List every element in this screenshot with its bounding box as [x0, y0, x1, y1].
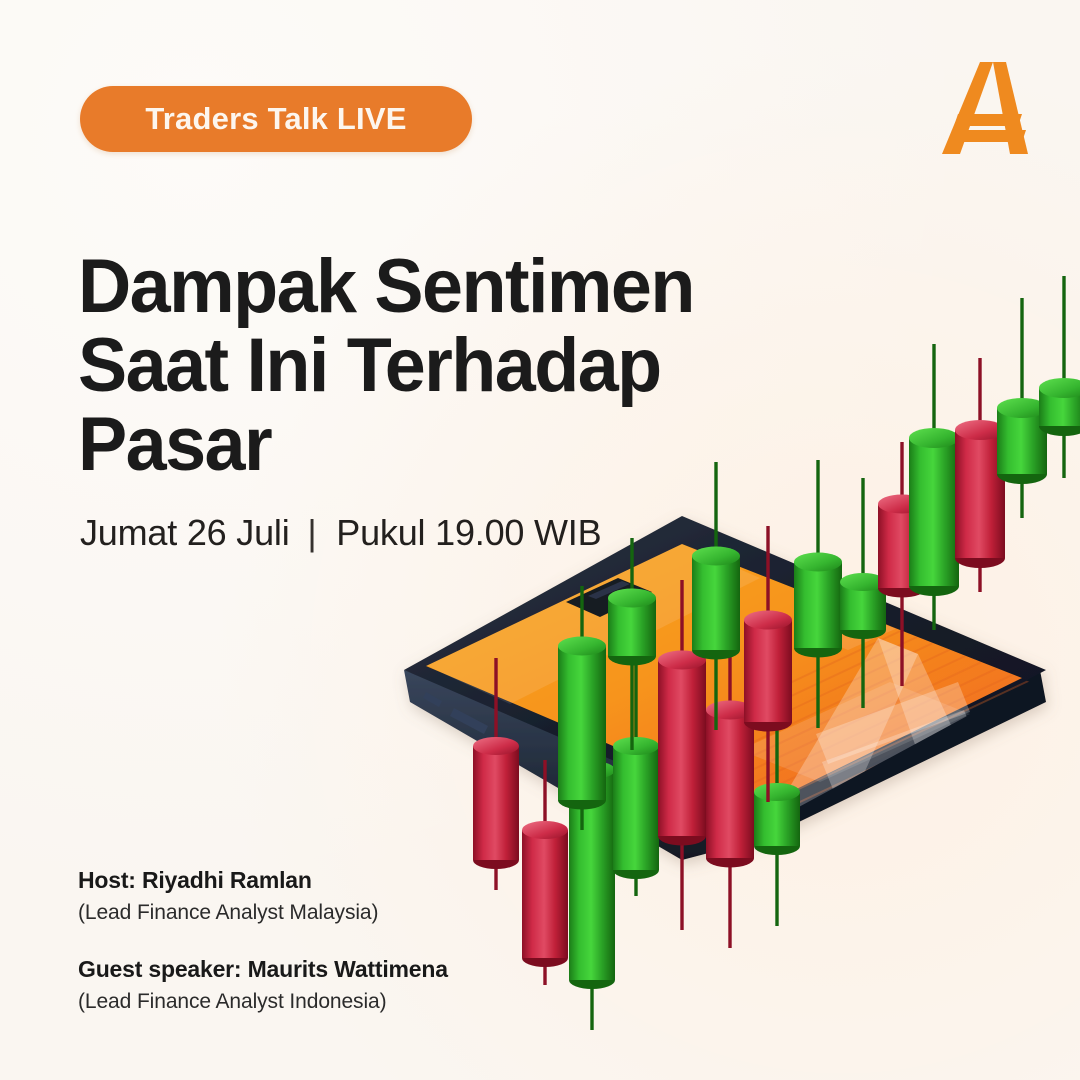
- credit-guest: Guest speaker: Maurits Wattimena (Lead F…: [78, 955, 548, 1016]
- credit-host: Host: Riyadhi Ramlan (Lead Finance Analy…: [78, 866, 548, 927]
- poster-canvas: Traders Talk LIVE Dampak Sentimen Saat I…: [0, 0, 1080, 1080]
- guest-role: (Lead Finance Analyst Indonesia): [78, 988, 548, 1016]
- brand-a-logo: [936, 58, 1032, 158]
- datetime-separator: |: [307, 512, 316, 554]
- live-badge-label: Traders Talk LIVE: [145, 101, 406, 137]
- host-name: Host: Riyadhi Ramlan: [78, 866, 548, 896]
- event-date: Jumat 26 Juli: [80, 512, 290, 553]
- page-title-line-1: Dampak Sentimen: [78, 247, 776, 326]
- candle-15: [909, 344, 959, 630]
- guest-name: Guest speaker: Maurits Wattimena: [78, 955, 548, 985]
- host-role: (Lead Finance Analyst Malaysia): [78, 899, 548, 927]
- live-badge[interactable]: Traders Talk LIVE: [80, 86, 472, 152]
- speaker-credits: Host: Riyadhi Ramlan (Lead Finance Analy…: [78, 866, 548, 1016]
